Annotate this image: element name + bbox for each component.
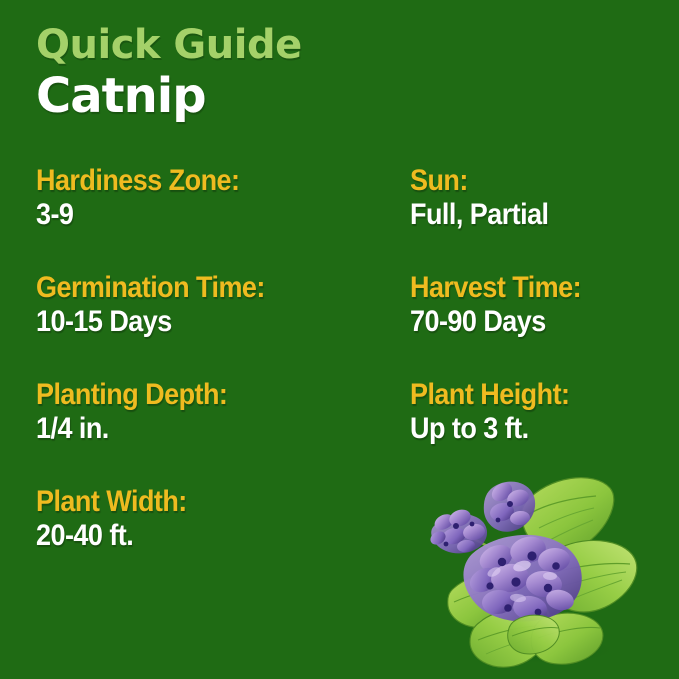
fact-value: 10-15 Days xyxy=(36,305,265,339)
fact-value: 3-9 xyxy=(36,198,239,232)
page-title: Catnip xyxy=(36,70,456,123)
fact-germination-time: Germination Time: 10-15 Days xyxy=(36,271,290,338)
fact-value: Up to 3 ft. xyxy=(410,412,569,446)
fact-label: Sun: xyxy=(410,164,549,198)
kicker-quick-guide: Quick Guide xyxy=(36,24,456,66)
fact-value: 1/4 in. xyxy=(36,412,227,446)
fact-value: 20-40 ft. xyxy=(36,519,187,553)
fact-label: Plant Height: xyxy=(410,378,569,412)
fact-label: Planting Depth: xyxy=(36,378,227,412)
fact-label: Hardiness Zone: xyxy=(36,164,239,198)
fact-label: Harvest Time: xyxy=(410,271,581,305)
fact-plant-height: Plant Height: Up to 3 ft. xyxy=(410,378,587,445)
quick-guide-card: Quick Guide Catnip Hardiness Zone: 3-9 S… xyxy=(0,0,679,679)
card-header: Quick Guide Catnip xyxy=(36,24,456,123)
fact-planting-depth: Planting Depth: 1/4 in. xyxy=(36,378,249,445)
fact-value: 70-90 Days xyxy=(410,305,581,339)
fact-hardiness-zone: Hardiness Zone: 3-9 xyxy=(36,164,262,231)
fact-label: Germination Time: xyxy=(36,271,265,305)
fact-label: Plant Width: xyxy=(36,485,187,519)
fact-plant-width: Plant Width: 20-40 ft. xyxy=(36,485,204,552)
fact-harvest-time: Harvest Time: 70-90 Days xyxy=(410,271,600,338)
fact-value: Full, Partial xyxy=(410,198,549,232)
fact-sun: Sun: Full, Partial xyxy=(410,164,564,231)
fact-row: Germination Time: 10-15 Days Harvest Tim… xyxy=(36,271,656,378)
catnip-plant-illustration xyxy=(398,462,670,672)
fact-row: Hardiness Zone: 3-9 Sun: Full, Partial xyxy=(36,164,656,271)
